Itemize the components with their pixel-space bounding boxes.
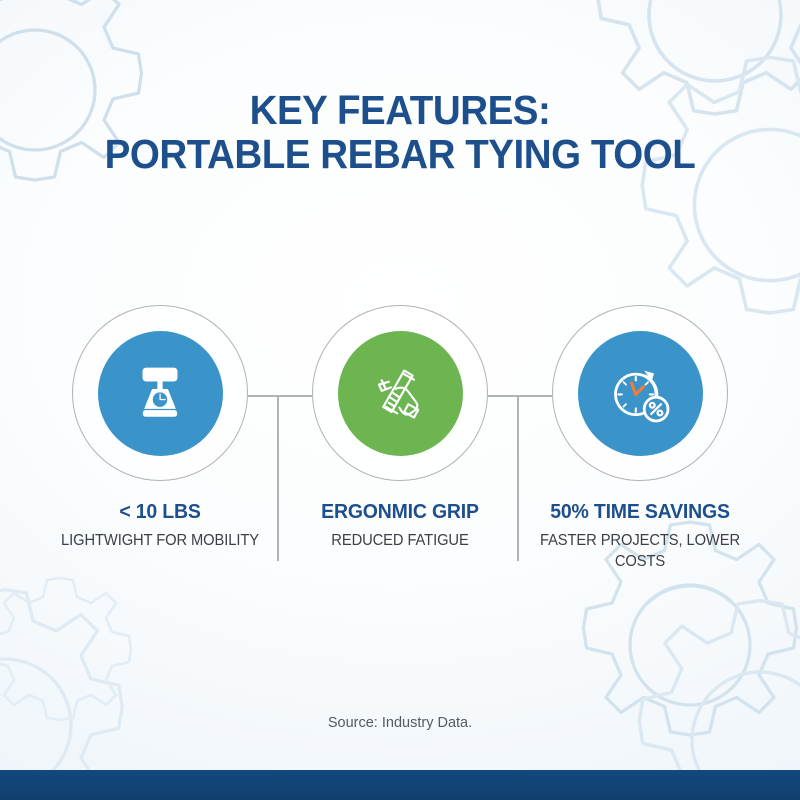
feature-subtext: FASTER PROJECTS, LOWER COSTS (526, 531, 754, 572)
bottom-bar (0, 770, 800, 800)
feature-subtext: LIGHTWIGHT FOR MOBILITY (46, 531, 274, 552)
hand-gripping-tool-icon (365, 358, 435, 428)
feature-heading: 50% TIME SAVINGS (526, 500, 754, 524)
page-title: KEY FEATURES: PORTABLE REBAR TYING TOOL (0, 88, 800, 177)
feature-heading: ERGONMIC GRIP (286, 500, 514, 524)
feature-item-grip[interactable]: ERGONMIC GRIP REDUCED FATIGUE (280, 305, 520, 552)
feature-disc (578, 331, 703, 456)
feature-subtext: REDUCED FATIGUE (286, 531, 514, 552)
feature-ring (72, 305, 248, 481)
feature-ring (312, 305, 488, 481)
source-note: Source: Industry Data. (0, 715, 800, 731)
feature-item-weight[interactable]: < 10 LBS LIGHTWIGHT FOR MOBILITY (40, 305, 280, 552)
title-line-2: PORTABLE REBAR TYING TOOL (24, 132, 776, 176)
title-line-1: KEY FEATURES: (24, 88, 776, 132)
feature-row: < 10 LBS LIGHTWIGHT FOR MOBILITY (0, 305, 800, 605)
feature-disc (98, 331, 223, 456)
feature-heading: < 10 LBS (46, 500, 274, 524)
feature-disc (338, 331, 463, 456)
feature-item-time[interactable]: 50% TIME SAVINGS FASTER PROJECTS, LOWER … (520, 305, 760, 572)
infographic-canvas: KEY FEATURES: PORTABLE REBAR TYING TOOL (0, 0, 800, 800)
clock-percent-arrow-icon (605, 358, 675, 428)
weight-scale-icon (127, 360, 193, 426)
feature-ring (552, 305, 728, 481)
